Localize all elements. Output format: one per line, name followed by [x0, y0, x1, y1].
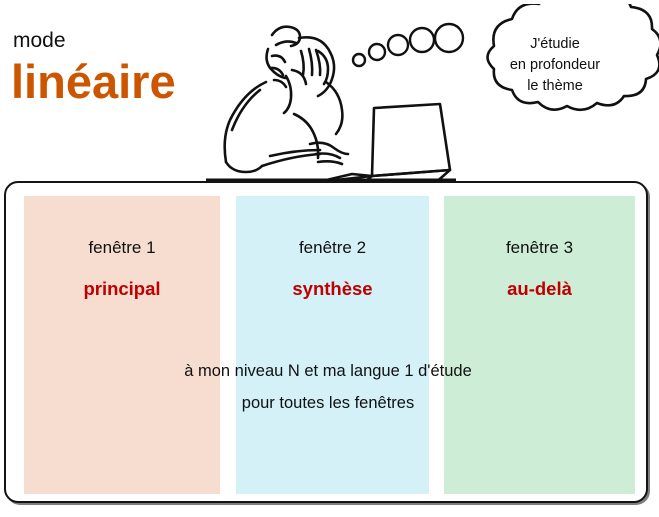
window-1-title: fenêtre 1 — [24, 238, 220, 258]
window-column-2: fenêtre 2 synthèse — [236, 196, 429, 494]
window-2-title: fenêtre 2 — [236, 238, 429, 258]
window-column-3: fenêtre 3 au-delà — [444, 196, 635, 494]
bubble-line-3: le thème — [470, 76, 640, 97]
windows-panel: fenêtre 1 principal fenêtre 2 synthèse f… — [4, 181, 648, 503]
window-2-keyword: synthèse — [236, 278, 429, 300]
window-1-keyword: principal — [24, 278, 220, 300]
mode-label: mode — [13, 29, 66, 53]
page-title: linéaire — [11, 58, 176, 105]
window-3-title: fenêtre 3 — [444, 238, 635, 258]
bubble-line-2: en profondeur — [470, 55, 640, 76]
thought-bubble-text: J'étudie en profondeur le thème — [470, 34, 640, 97]
window-column-1: fenêtre 1 principal — [24, 196, 220, 494]
header: mode linéaire — [0, 0, 659, 182]
bubble-line-1: J'étudie — [470, 34, 640, 55]
window-3-keyword: au-delà — [444, 278, 635, 300]
